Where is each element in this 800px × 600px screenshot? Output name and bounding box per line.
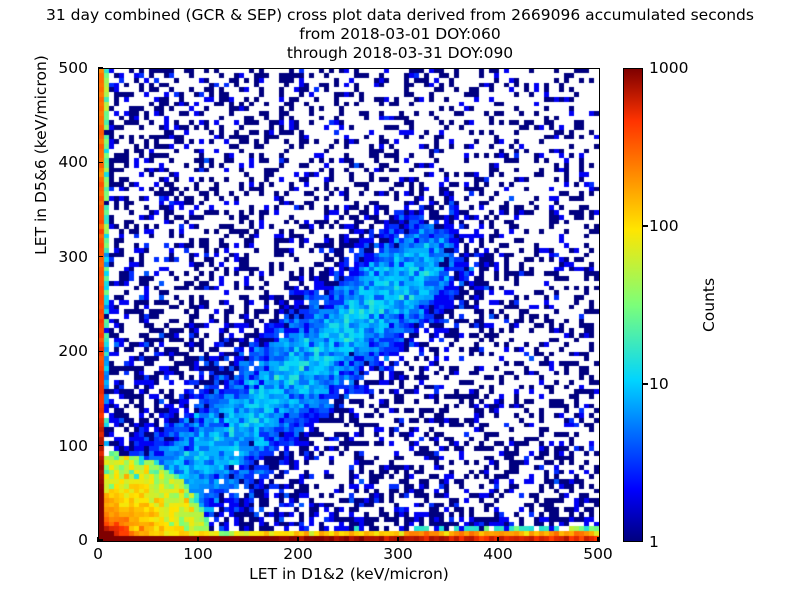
colorbar [623, 68, 643, 542]
x-axis-label: LET in D1&2 (keV/micron) [98, 565, 600, 583]
x-tick-mark [197, 537, 198, 542]
x-tick-label: 300 [383, 545, 413, 563]
plot-area [98, 68, 600, 542]
y-tick-mark [98, 67, 103, 68]
y-tick-label: 0 [78, 531, 88, 549]
plot-title: 31 day combined (GCR & SEP) cross plot d… [0, 6, 800, 63]
colorbar-tick-mark [643, 225, 648, 226]
figure-canvas: 31 day combined (GCR & SEP) cross plot d… [0, 0, 800, 600]
y-tick-label: 400 [58, 153, 88, 171]
y-tick-label: 300 [58, 248, 88, 266]
y-tick-mark [98, 445, 103, 446]
x-tick-label: 0 [93, 545, 103, 563]
colorbar-tick-label: 1000 [649, 59, 688, 77]
x-tick-label: 400 [483, 545, 513, 563]
x-tick-label: 100 [183, 545, 213, 563]
colorbar-tick-label: 1 [649, 533, 659, 551]
title-line-2: from 2018-03-01 DOY:060 [0, 25, 800, 44]
title-line-1: 31 day combined (GCR & SEP) cross plot d… [0, 6, 800, 25]
y-tick-mark [98, 351, 103, 352]
density-scatter-plot [99, 69, 599, 541]
x-tick-mark [497, 537, 498, 542]
colorbar-tick-label: 100 [649, 217, 679, 235]
y-tick-mark [98, 162, 103, 163]
y-axis-label: LET in D5&6 (keV/micron) [32, 5, 50, 305]
y-tick-mark [98, 539, 103, 540]
x-tick-mark [297, 537, 298, 542]
x-tick-label: 500 [583, 545, 613, 563]
x-tick-label: 200 [283, 545, 313, 563]
colorbar-tick-label: 10 [649, 375, 669, 393]
colorbar-gradient [624, 69, 642, 541]
y-tick-mark [98, 256, 103, 257]
y-tick-label: 100 [58, 437, 88, 455]
colorbar-label: Counts [700, 278, 718, 332]
y-tick-label: 200 [58, 342, 88, 360]
x-tick-mark [597, 537, 598, 542]
y-tick-label: 500 [58, 59, 88, 77]
x-tick-mark [397, 537, 398, 542]
colorbar-tick-mark [643, 383, 648, 384]
